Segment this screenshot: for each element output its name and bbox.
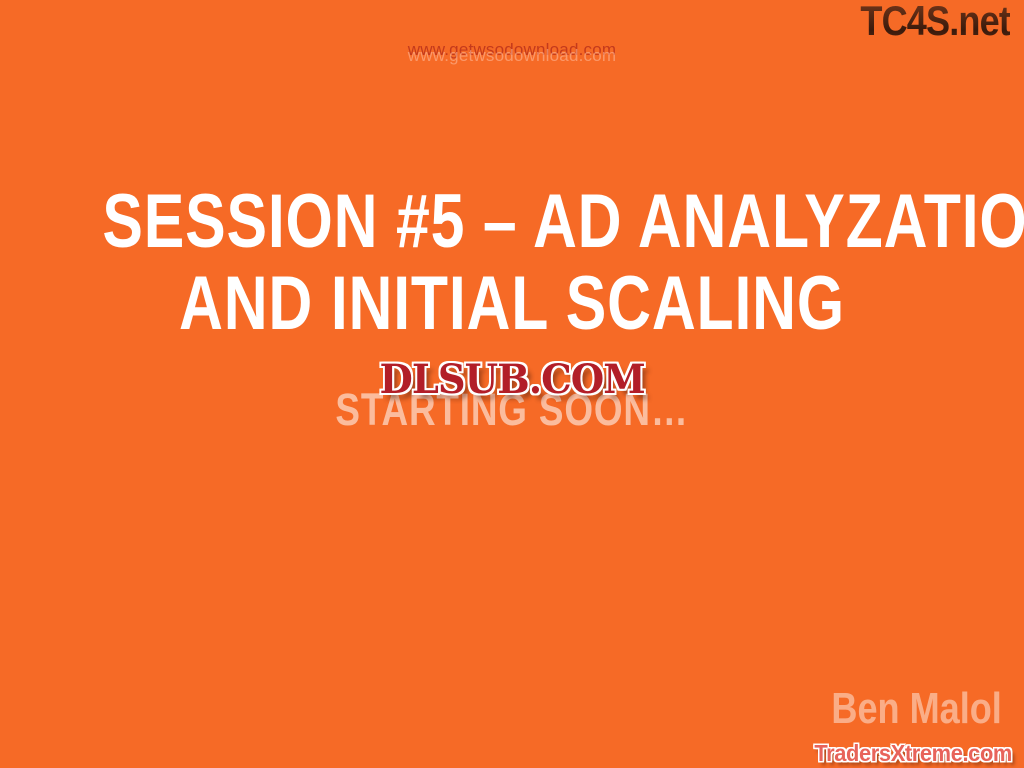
subtitle-starting-soon: STARTING SOON… <box>92 386 932 434</box>
watermark-tc4s-brand: TC4S.net <box>860 0 1010 44</box>
watermark-dlsub: DLSUB.COM <box>0 358 1024 402</box>
presenter-name: Ben Malol <box>832 686 1002 732</box>
watermark-tradersxtreme: TradersXtreme.com <box>814 740 1012 766</box>
watermark-dlsub-text: DLSUB.COM <box>379 358 644 402</box>
title-line-2: AND INITIAL SCALING <box>102 263 921 345</box>
title-line-1: SESSION #5 – AD ANALYZATION <box>102 181 921 263</box>
title-slide: www.getwsodownload.com www.getwsodownloa… <box>0 0 1024 768</box>
watermark-top-url-text: www.getwsodownload.com <box>408 40 617 59</box>
watermark-top-url-ghost: www.getwsodownload.com <box>0 46 1024 66</box>
page-title: SESSION #5 – AD ANALYZATION AND INITIAL … <box>0 181 1024 345</box>
